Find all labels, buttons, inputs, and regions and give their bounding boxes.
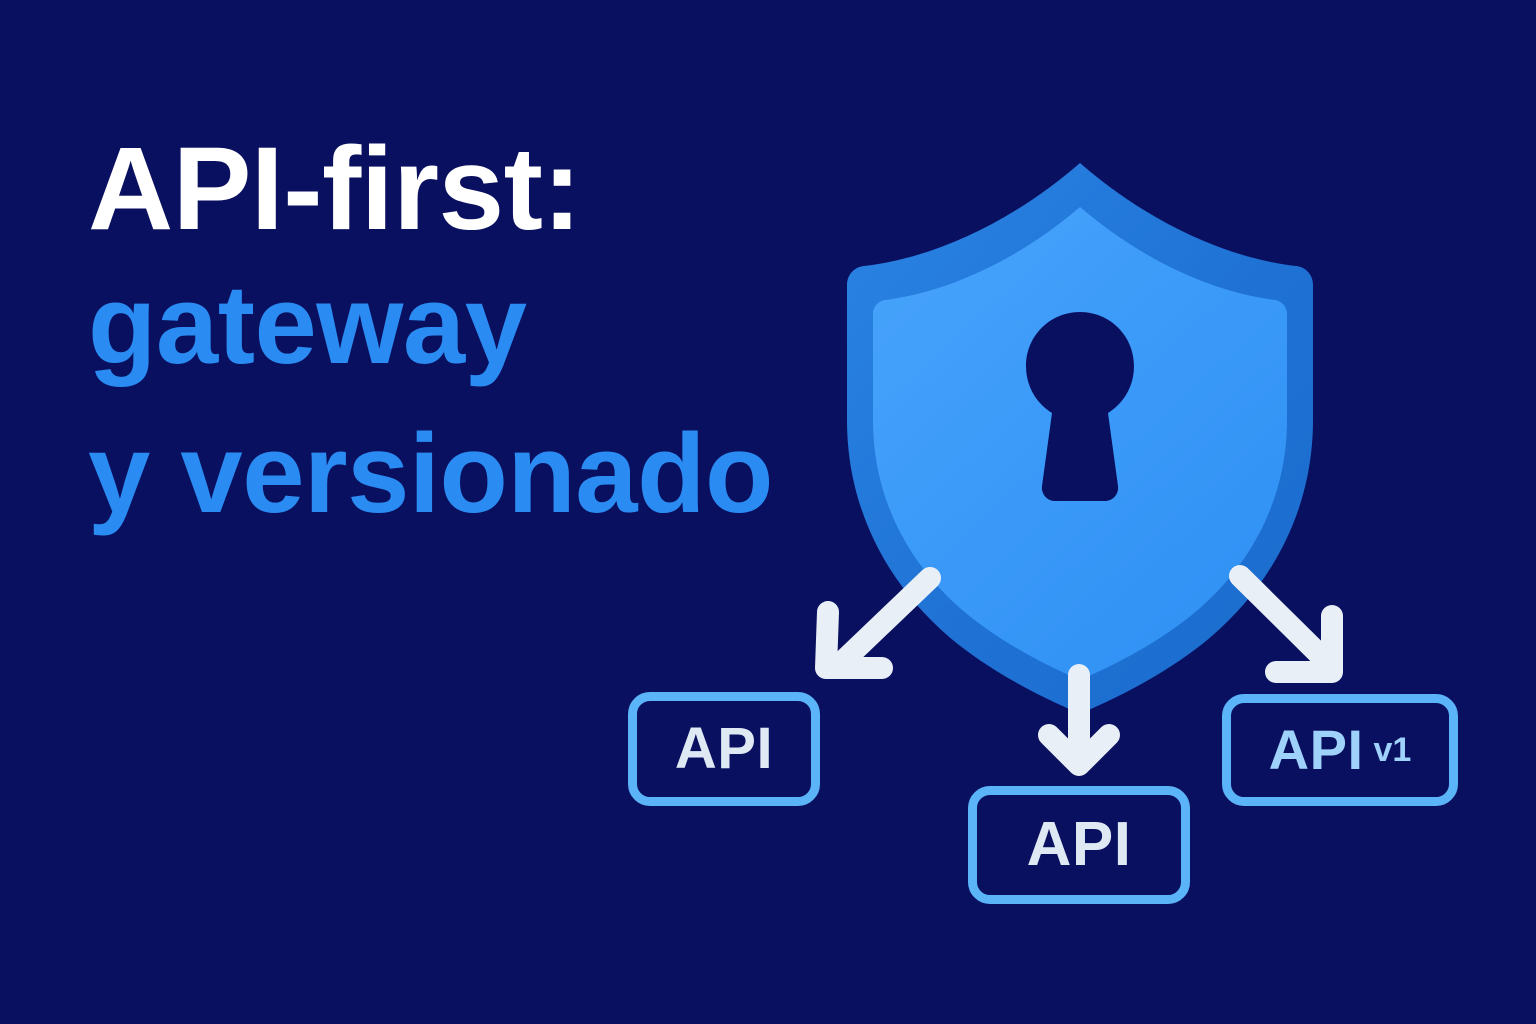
diagram-graphic-layer <box>0 0 1536 1024</box>
api-node-right[interactable]: API v1 <box>1222 694 1458 806</box>
api-node-middle-label: API <box>1027 814 1132 876</box>
api-node-left[interactable]: API <box>628 692 820 806</box>
poster-canvas: API-first: gateway y versionado <box>0 0 1536 1024</box>
api-node-middle[interactable]: API <box>968 786 1190 904</box>
api-node-right-label: API <box>1269 722 1364 778</box>
arrow-to-api-left <box>826 578 930 668</box>
api-node-right-version: v1 <box>1374 733 1412 767</box>
api-node-left-label: API <box>675 720 773 778</box>
arrow-to-api-right <box>1240 576 1332 672</box>
